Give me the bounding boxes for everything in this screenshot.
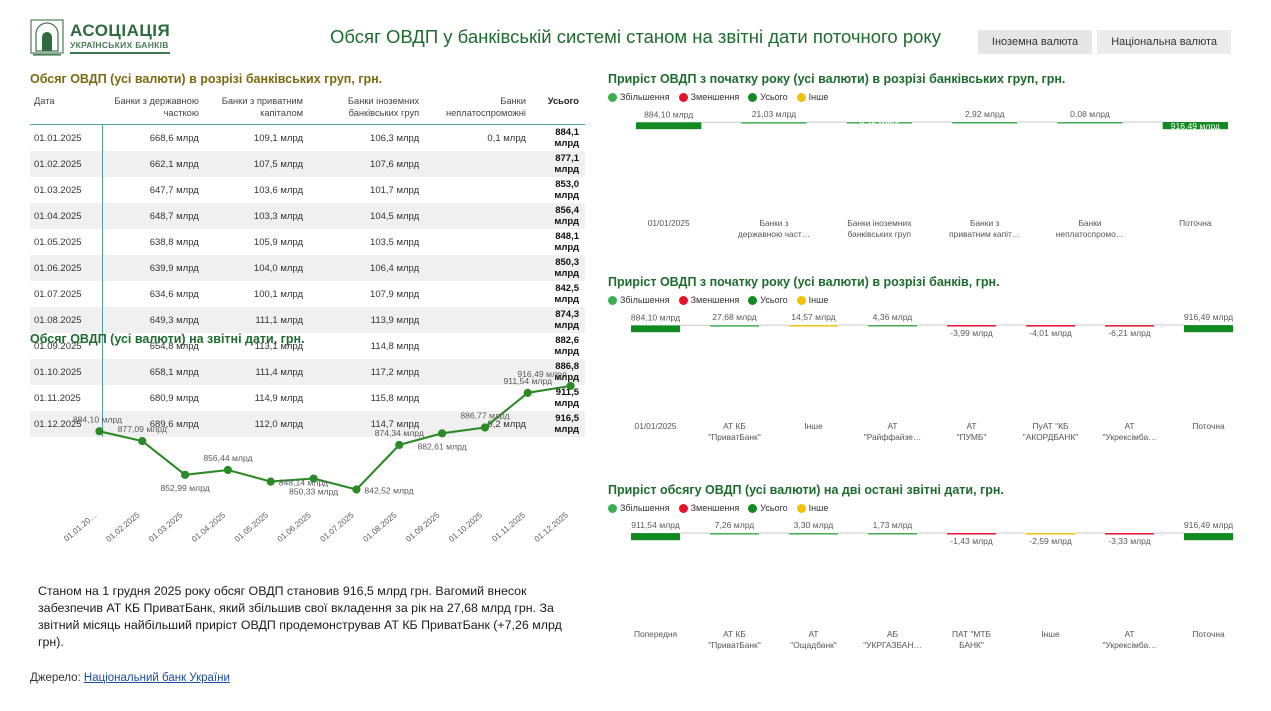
cell-private: 107,5 млрд (205, 151, 309, 177)
waterfall-category-label: неплатоспромо… (1056, 229, 1124, 239)
legend-decrease: Зменшення (679, 295, 740, 305)
increase-dot-icon (608, 504, 617, 513)
waterfall-category-label: Інше (804, 421, 823, 431)
legend-other: Інше (797, 503, 829, 513)
waterfall-bar (947, 325, 996, 327)
waterfall-category-label: ПАТ "МТБ (952, 629, 991, 639)
waterfall-value-label: 2,92 млрд (965, 109, 1005, 119)
cell-total: 850,3 млрд (532, 255, 585, 281)
waterfall-category-label: Інше (1041, 629, 1060, 639)
line-value-label: 916,49 млрд (517, 369, 566, 379)
waterfall-value-label: 0,08 млрд (1070, 109, 1110, 119)
waterfall-value-label: 8,36 млрд (860, 118, 900, 128)
ovdp-line-chart: 884,10 млрд877,09 млрд852,99 млрд856,44 … (30, 348, 600, 566)
legend-decrease-label: Зменшення (691, 295, 740, 305)
table-row: 01.07.2025634,6 млрд100,1 млрд107,9 млрд… (30, 281, 585, 307)
waterfall-category-label: ПуАТ "КБ (1033, 421, 1069, 431)
line-data-point (95, 427, 103, 435)
waterfall-bar (868, 533, 917, 535)
waterfall-bar (1026, 533, 1075, 535)
cell-state: 649,3 млрд (102, 307, 205, 333)
col-total: Усього (532, 94, 585, 125)
waterfall-category-label: приватним капіт… (949, 229, 1020, 239)
waterfall-category-label: 01/01/2025 (635, 421, 677, 431)
line-data-point (438, 429, 446, 437)
waterfall-bar (631, 325, 680, 332)
ovdp-table-title: Обсяг ОВДП (усі валюти) в розрізі банків… (30, 72, 590, 86)
waterfall-category-label: "Райффайзе… (864, 432, 922, 442)
table-row: 01.04.2025648,7 млрд103,3 млрд104,5 млрд… (30, 203, 585, 229)
waterfall-category-label: "ПриватБанк" (708, 640, 760, 650)
line-x-tick: 01.02.2025 (104, 510, 142, 544)
cell-foreign: 104,5 млрд (309, 203, 425, 229)
line-x-tick: 01.03.2025 (147, 510, 185, 544)
source-line: Джерело: Національний банк України (30, 672, 230, 684)
col-insolvent: Банки неплатоспроможні (425, 94, 532, 125)
cell-date: 01.07.2025 (30, 281, 102, 307)
waterfall-groups-title: Приріст ОВДП з початку року (усі валюти)… (608, 72, 1258, 86)
waterfall-category-label: банківських груп (848, 229, 912, 239)
total-dot-icon (748, 93, 757, 102)
cell-total: 884,1 млрд (532, 125, 585, 152)
legend-total-label: Усього (760, 295, 787, 305)
other-dot-icon (797, 93, 806, 102)
table-row: 01.06.2025639,9 млрд104,0 млрд106,4 млрд… (30, 255, 585, 281)
waterfall-category-label: 01/01/2025 (648, 218, 690, 228)
other-dot-icon (797, 296, 806, 305)
total-dot-icon (748, 504, 757, 513)
cell-foreign: 101,7 млрд (309, 177, 425, 203)
line-data-point (395, 441, 403, 449)
increase-dot-icon (608, 93, 617, 102)
line-x-tick: 01.05.2025 (233, 510, 271, 544)
waterfall-banks-month-title: Приріст обсягу ОВДП (усі валюти) на дві … (608, 483, 1258, 497)
waterfall-banks-month-legend: Збільшення Зменшення Усього Інше (608, 503, 1258, 513)
legend-decrease: Зменшення (679, 503, 740, 513)
waterfall-bar (636, 122, 701, 129)
legend-other: Інше (797, 92, 829, 102)
table-row: 01.02.2025662,1 млрд107,5 млрд107,6 млрд… (30, 151, 585, 177)
logo-divider (70, 52, 170, 54)
table-row: 01.01.2025668,6 млрд109,1 млрд106,3 млрд… (30, 125, 585, 152)
waterfall-value-label: 14,57 млрд (791, 312, 835, 322)
cell-total: 874,3 млрд (532, 307, 585, 333)
line-value-label: 852,99 млрд (160, 483, 209, 493)
waterfall-banks-month-chart: 911,54 млрдПопередня7,26 млрдАТ КБ"Прива… (608, 515, 1258, 663)
national-currency-button[interactable]: Національна валюта (1097, 30, 1231, 54)
waterfall-category-label: Поточна (1192, 629, 1225, 639)
decrease-dot-icon (679, 296, 688, 305)
waterfall-value-label: -1,43 млрд (950, 536, 993, 546)
waterfall-category-label: "ПриватБанк" (708, 432, 760, 442)
line-data-point (138, 437, 146, 445)
line-value-label: 856,44 млрд (203, 453, 252, 463)
cell-private: 105,9 млрд (205, 229, 309, 255)
cell-insolvent (425, 307, 532, 333)
line-x-tick: 01.04.2025 (190, 510, 228, 544)
waterfall-bar (710, 533, 759, 535)
waterfall-category-label: АТ КБ (723, 421, 746, 431)
cell-private: 109,1 млрд (205, 125, 309, 152)
line-value-label: 877,09 млрд (118, 424, 167, 434)
line-x-tick: 01.08.2025 (361, 510, 399, 544)
waterfall-category-label: АТ (887, 421, 897, 431)
line-data-point (309, 474, 317, 482)
cell-foreign: 106,4 млрд (309, 255, 425, 281)
waterfall-category-label: державною част… (738, 229, 810, 239)
total-dot-icon (748, 296, 757, 305)
legend-increase: Збільшення (608, 295, 670, 305)
waterfall-value-label: 27,68 млрд (712, 312, 756, 322)
waterfall-value-label: -3,33 млрд (1108, 536, 1151, 546)
col-private: Банки з приватним капіталом (205, 94, 309, 125)
line-data-point (224, 466, 232, 474)
waterfall-category-label: АТ КБ (723, 629, 746, 639)
cell-state: 634,6 млрд (102, 281, 205, 307)
line-data-point (181, 471, 189, 479)
waterfall-category-label: Поточна (1192, 421, 1225, 431)
cell-date: 01.08.2025 (30, 307, 102, 333)
table-row: 01.03.2025647,7 млрд103,6 млрд101,7 млрд… (30, 177, 585, 203)
line-path (99, 386, 570, 490)
table-row: 01.08.2025649,3 млрд111,1 млрд113,9 млрд… (30, 307, 585, 333)
waterfall-bar (952, 122, 1017, 124)
cell-state: 638,8 млрд (102, 229, 205, 255)
waterfall-category-label: "АКОРДБАНК" (1023, 432, 1078, 442)
line-x-tick: 01.07.2025 (319, 510, 357, 544)
waterfall-bar (1057, 122, 1122, 124)
line-x-tick: 01.11.2025 (490, 510, 527, 543)
source-link[interactable]: Національний банк України (84, 672, 230, 684)
table-head: Дата Банки з державною часткою Банки з п… (30, 94, 585, 125)
waterfall-category-label: Банки з (970, 218, 999, 228)
waterfall-category-label: АБ (887, 629, 899, 639)
cell-private: 104,0 млрд (205, 255, 309, 281)
cell-private: 103,6 млрд (205, 177, 309, 203)
waterfall-category-label: Банки іноземних (847, 218, 912, 228)
legend-total: Усього (748, 295, 787, 305)
waterfall-banks-month-panel: Приріст обсягу ОВДП (усі валюти) на дві … (608, 483, 1258, 663)
waterfall-bar (710, 325, 759, 327)
waterfall-banks-ytd-chart: 884,10 млрд01/01/202527,68 млрдАТ КБ"При… (608, 307, 1258, 455)
cell-insolvent (425, 203, 532, 229)
cell-total: 877,1 млрд (532, 151, 585, 177)
line-data-point (481, 423, 489, 431)
cell-foreign: 107,9 млрд (309, 281, 425, 307)
waterfall-banks-ytd-panel: Приріст ОВДП з початку року (усі валюти)… (608, 275, 1258, 455)
legend-decrease-label: Зменшення (691, 92, 740, 102)
decrease-dot-icon (679, 504, 688, 513)
waterfall-bar (868, 325, 917, 327)
waterfall-banks-ytd-title: Приріст ОВДП з початку року (усі валюти)… (608, 275, 1258, 289)
legend-decrease-label: Зменшення (691, 503, 740, 513)
waterfall-bar (789, 325, 838, 327)
waterfall-bar (741, 122, 806, 124)
cell-private: 103,3 млрд (205, 203, 309, 229)
waterfall-bar (1184, 325, 1233, 332)
legend-total: Усього (748, 503, 787, 513)
waterfall-value-label: 21,03 млрд (752, 109, 796, 119)
line-chart-title: Обсяг ОВДП (усі валюти) на звітні дати, … (30, 332, 600, 346)
dashboard-header: АСОЦІАЦІЯ УКРАЇНСЬКИХ БАНКІВ Обсяг ОВДП … (0, 0, 1271, 66)
line-x-tick: 01.10.2025 (447, 510, 485, 544)
legend-total: Усього (748, 92, 787, 102)
line-value-label: 842,52 млрд (364, 485, 413, 495)
legend-total-label: Усього (760, 92, 787, 102)
legend-other-label: Інше (809, 503, 829, 513)
cell-total: 848,1 млрд (532, 229, 585, 255)
legend-other-label: Інше (809, 295, 829, 305)
cell-foreign: 103,5 млрд (309, 229, 425, 255)
cell-date: 01.04.2025 (30, 203, 102, 229)
foreign-currency-button[interactable]: Іноземна валюта (978, 30, 1092, 54)
line-value-label: 874,34 млрд (375, 428, 424, 438)
line-x-tick: 01.09.2025 (404, 510, 442, 544)
line-x-tick: 01.12.2025 (533, 510, 571, 544)
cell-insolvent (425, 255, 532, 281)
waterfall-value-label: 884,10 млрд (631, 312, 680, 322)
waterfall-category-label: АТ (808, 629, 818, 639)
cell-insolvent (425, 151, 532, 177)
waterfall-value-label: -2,59 млрд (1029, 536, 1072, 546)
waterfall-category-label: Попередня (634, 629, 677, 639)
waterfall-bar (1026, 325, 1075, 327)
waterfall-value-label: 916,49 млрд (1184, 312, 1233, 322)
waterfall-value-label: 4,36 млрд (873, 312, 913, 322)
line-data-point (352, 485, 360, 493)
waterfall-groups-legend: Збільшення Зменшення Усього Інше (608, 92, 1258, 102)
waterfall-value-label: 7,26 млрд (715, 520, 755, 530)
waterfall-value-label: -3,99 млрд (950, 328, 993, 338)
waterfall-category-label: "Ощадбанк" (790, 640, 836, 650)
line-data-point (524, 389, 532, 397)
waterfall-bar (631, 533, 680, 540)
waterfall-banks-ytd-legend: Збільшення Зменшення Усього Інше (608, 295, 1258, 305)
waterfall-value-label: -4,01 млрд (1029, 328, 1072, 338)
waterfall-value-label: 1,73 млрд (873, 520, 913, 530)
cell-date: 01.05.2025 (30, 229, 102, 255)
line-data-point (566, 382, 574, 390)
line-value-label: 882,61 млрд (417, 441, 466, 451)
col-date: Дата (30, 94, 102, 125)
waterfall-category-label: БАНК" (959, 640, 984, 650)
cell-total: 842,5 млрд (532, 281, 585, 307)
line-value-label: 884,10 млрд (73, 414, 122, 424)
cell-date: 01.06.2025 (30, 255, 102, 281)
legend-increase-label: Збільшення (620, 295, 670, 305)
cell-foreign: 106,3 млрд (309, 125, 425, 152)
cell-insolvent (425, 177, 532, 203)
cell-total: 853,0 млрд (532, 177, 585, 203)
waterfall-bar (1184, 533, 1233, 540)
cell-insolvent (425, 281, 532, 307)
waterfall-category-label: Банки (1078, 218, 1101, 228)
col-foreign: Банки іноземних банківських груп (309, 94, 425, 125)
waterfall-value-label: -6,21 млрд (1108, 328, 1151, 338)
line-x-tick: 01.06.2025 (276, 510, 314, 544)
cell-total: 856,4 млрд (532, 203, 585, 229)
summary-note: Станом на 1 грудня 2025 року обсяг ОВДП … (38, 583, 583, 651)
legend-increase-label: Збільшення (620, 92, 670, 102)
waterfall-bar (789, 533, 838, 535)
waterfall-category-label: АТ (966, 421, 976, 431)
decrease-dot-icon (679, 93, 688, 102)
table-row: 01.05.2025638,8 млрд105,9 млрд103,5 млрд… (30, 229, 585, 255)
legend-other-label: Інше (809, 92, 829, 102)
ovdp-line-chart-panel: Обсяг ОВДП (усі валюти) на звітні дати, … (30, 332, 600, 572)
legend-increase: Збільшення (608, 92, 670, 102)
cell-state: 662,1 млрд (102, 151, 205, 177)
legend-increase: Збільшення (608, 503, 670, 513)
increase-dot-icon (608, 296, 617, 305)
legend-increase-label: Збільшення (620, 503, 670, 513)
waterfall-value-label: 916,49 млрд (1184, 520, 1233, 530)
other-dot-icon (797, 504, 806, 513)
cell-date: 01.02.2025 (30, 151, 102, 177)
cell-foreign: 113,9 млрд (309, 307, 425, 333)
legend-total-label: Усього (760, 503, 787, 513)
col-state: Банки з державною часткою (102, 94, 205, 125)
cell-date: 01.03.2025 (30, 177, 102, 203)
waterfall-category-label: Банки з (759, 218, 788, 228)
waterfall-value-label: 911,54 млрд (631, 520, 680, 530)
waterfall-groups-panel: Приріст ОВДП з початку року (усі валюти)… (608, 72, 1258, 252)
waterfall-bar (1105, 325, 1154, 327)
line-value-label: 850,33 млрд (289, 487, 338, 497)
waterfall-bar (947, 533, 996, 535)
waterfall-category-label: АТ (1124, 421, 1134, 431)
waterfall-category-label: "Укрексімба… (1102, 640, 1156, 650)
cell-private: 111,1 млрд (205, 307, 309, 333)
waterfall-value-label: 916,49 млрд (1171, 121, 1220, 131)
source-label: Джерело: (30, 672, 84, 684)
waterfall-value-label: 884,10 млрд (644, 109, 693, 119)
waterfall-category-label: "Укрексімба… (1102, 432, 1156, 442)
waterfall-groups-chart: 884,10 млрд01/01/202521,03 млрдБанки зде… (608, 104, 1258, 252)
line-value-label: 886,77 млрд (460, 411, 509, 421)
cell-state: 647,7 млрд (102, 177, 205, 203)
waterfall-category-label: Поточна (1179, 218, 1212, 228)
cell-state: 668,6 млрд (102, 125, 205, 152)
line-data-point (267, 478, 275, 486)
cell-state: 639,9 млрд (102, 255, 205, 281)
cell-date: 01.01.2025 (30, 125, 102, 152)
line-x-tick: 01.01.20… (62, 511, 98, 544)
waterfall-category-label: "УКРГАЗБАН… (863, 640, 922, 650)
currency-toggle-group: Іноземна валюта Національна валюта (978, 30, 1231, 54)
legend-decrease: Зменшення (679, 92, 740, 102)
table-header-row: Дата Банки з державною часткою Банки з п… (30, 94, 585, 125)
cell-state: 648,7 млрд (102, 203, 205, 229)
cell-private: 100,1 млрд (205, 281, 309, 307)
waterfall-bar (1105, 533, 1154, 535)
waterfall-value-label: 3,30 млрд (794, 520, 834, 530)
cell-insolvent (425, 229, 532, 255)
legend-other: Інше (797, 295, 829, 305)
cell-foreign: 107,6 млрд (309, 151, 425, 177)
cell-insolvent: 0,1 млрд (425, 125, 532, 152)
waterfall-category-label: АТ (1124, 629, 1134, 639)
waterfall-category-label: "ПУМБ" (957, 432, 987, 442)
